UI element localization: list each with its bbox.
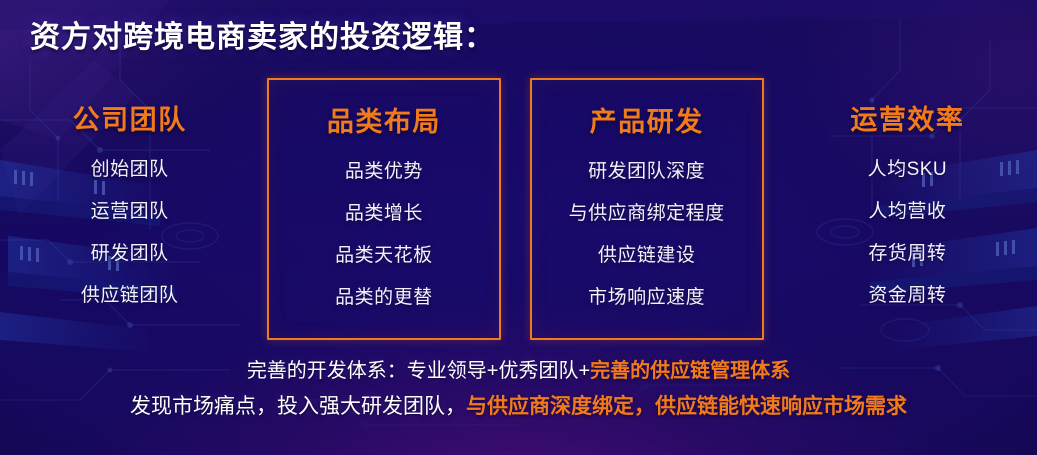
footer-conclusions: 完善的开发体系：专业领导+优秀团队+完善的供应链管理体系 发现市场痛点，投入强大…: [0, 358, 1037, 421]
investment-logic-columns: 公司团队 创始团队 运营团队 研发团队 供应链团队 品类布局 品类优势 品类增长…: [0, 78, 1037, 340]
column-operational-efficiency: 运营效率 人均SKU 人均营收 存货周转 资金周转: [778, 78, 1037, 340]
column-item: 品类优势: [345, 156, 423, 183]
footer-line-1-plain: 完善的开发体系：专业领导+优秀团队+: [247, 360, 590, 382]
column-item: 供应链建设: [598, 240, 696, 267]
column-item: 供应链团队: [81, 280, 179, 307]
footer-line-1: 完善的开发体系：专业领导+优秀团队+完善的供应链管理体系: [0, 358, 1037, 384]
footer-line-1-highlight: 完善的供应链管理体系: [590, 360, 790, 382]
column-item: 市场响应速度: [588, 282, 705, 309]
column-item: 创始团队: [91, 154, 169, 181]
column-item: 人均SKU: [868, 154, 948, 181]
column-item: 资金周转: [868, 280, 946, 307]
page-title: 资方对跨境电商卖家的投资逻辑：: [30, 12, 495, 56]
column-item: 研发团队: [91, 238, 169, 265]
column-item: 研发团队深度: [588, 156, 705, 183]
column-item: 与供应商绑定程度: [569, 198, 725, 225]
column-heading: 产品研发: [590, 100, 704, 139]
column-item: 品类天花板: [335, 240, 433, 267]
footer-line-2: 发现市场痛点，投入强大研发团队，与供应商深度绑定，供应链能快速响应市场需求: [0, 393, 1037, 421]
column-company-team: 公司团队 创始团队 运营团队 研发团队 供应链团队: [0, 78, 259, 340]
footer-line-2-highlight: 与供应商深度绑定，供应链能快速响应市场需求: [466, 395, 907, 418]
column-category-layout: 品类布局 品类优势 品类增长 品类天花板 品类的更替: [267, 78, 500, 340]
column-heading: 公司团队: [73, 98, 187, 137]
column-product-rnd: 产品研发 研发团队深度 与供应商绑定程度 供应链建设 市场响应速度: [530, 78, 764, 340]
column-heading: 品类布局: [327, 100, 441, 139]
column-heading: 运营效率: [850, 98, 964, 137]
column-item: 运营团队: [91, 196, 169, 223]
slide-canvas: 资方对跨境电商卖家的投资逻辑： 公司团队 创始团队 运营团队 研发团队 供应链团…: [0, 0, 1037, 455]
column-item: 品类增长: [345, 198, 423, 225]
footer-line-2-plain: 发现市场痛点，投入强大研发团队，: [130, 395, 466, 418]
column-item: 存货周转: [868, 238, 946, 265]
column-item: 品类的更替: [335, 282, 433, 309]
column-item: 人均营收: [868, 196, 946, 223]
